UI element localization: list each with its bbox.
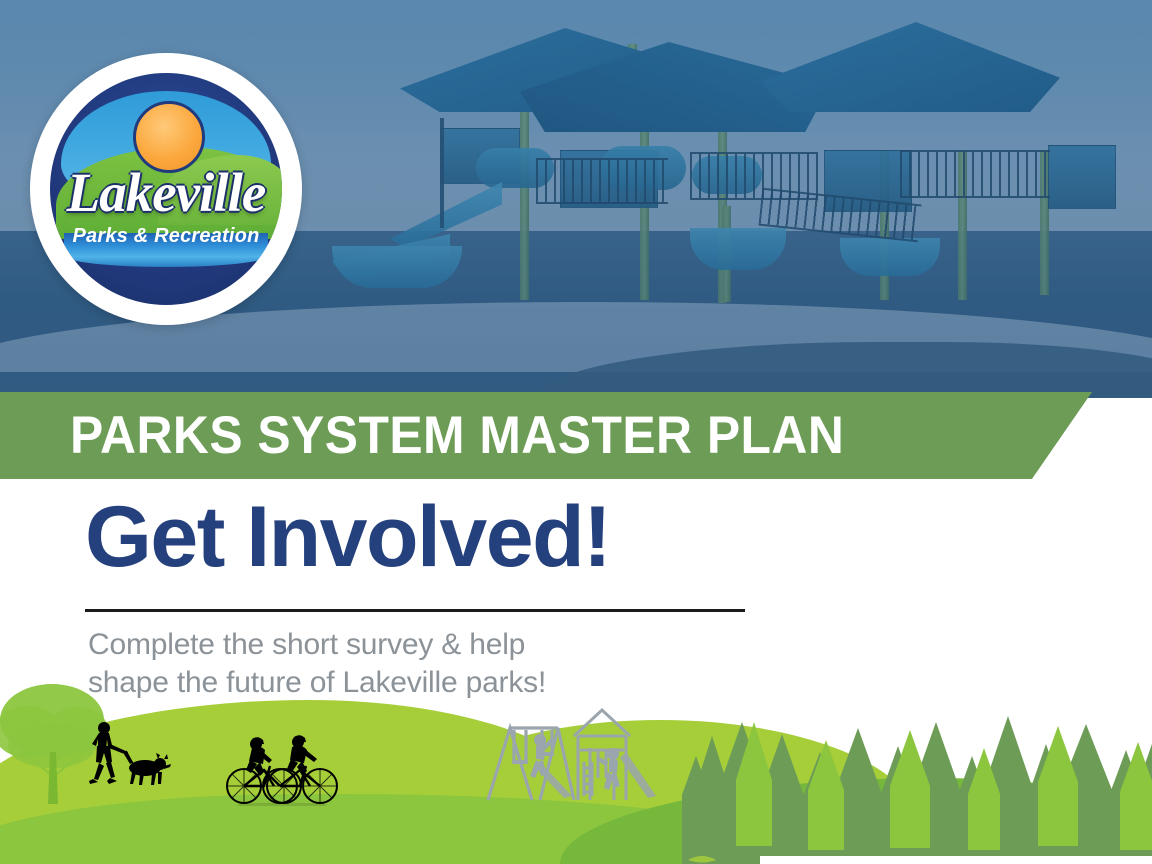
playground-swing-slide-icon xyxy=(480,692,660,808)
pine-forest-icon xyxy=(682,678,1152,864)
page-headline: Get Involved! xyxy=(85,494,610,580)
poster-canvas: Lakeville Parks & Recreation PARKS SYSTE… xyxy=(0,0,1152,864)
logo-navy-disc: Lakeville Parks & Recreation xyxy=(50,73,282,305)
two-cyclists-icon xyxy=(222,726,342,806)
footer-white-notch xyxy=(760,856,1152,864)
person-walking-dog-icon xyxy=(82,720,172,796)
banner-title-text: PARKS SYSTEM MASTER PLAN xyxy=(70,405,844,466)
subtitle-line-1: Complete the short survey & help xyxy=(88,626,546,664)
logo-wordmark: Lakeville xyxy=(50,165,282,220)
park-scene xyxy=(0,674,1152,864)
lakeville-parks-recreation-logo: Lakeville Parks & Recreation xyxy=(30,53,302,325)
logo-tagline: Parks & Recreation xyxy=(50,225,282,248)
title-banner: PARKS SYSTEM MASTER PLAN xyxy=(0,392,1092,479)
content-area: Get Involved! Complete the short survey … xyxy=(0,479,1152,864)
headline-divider xyxy=(85,609,745,612)
